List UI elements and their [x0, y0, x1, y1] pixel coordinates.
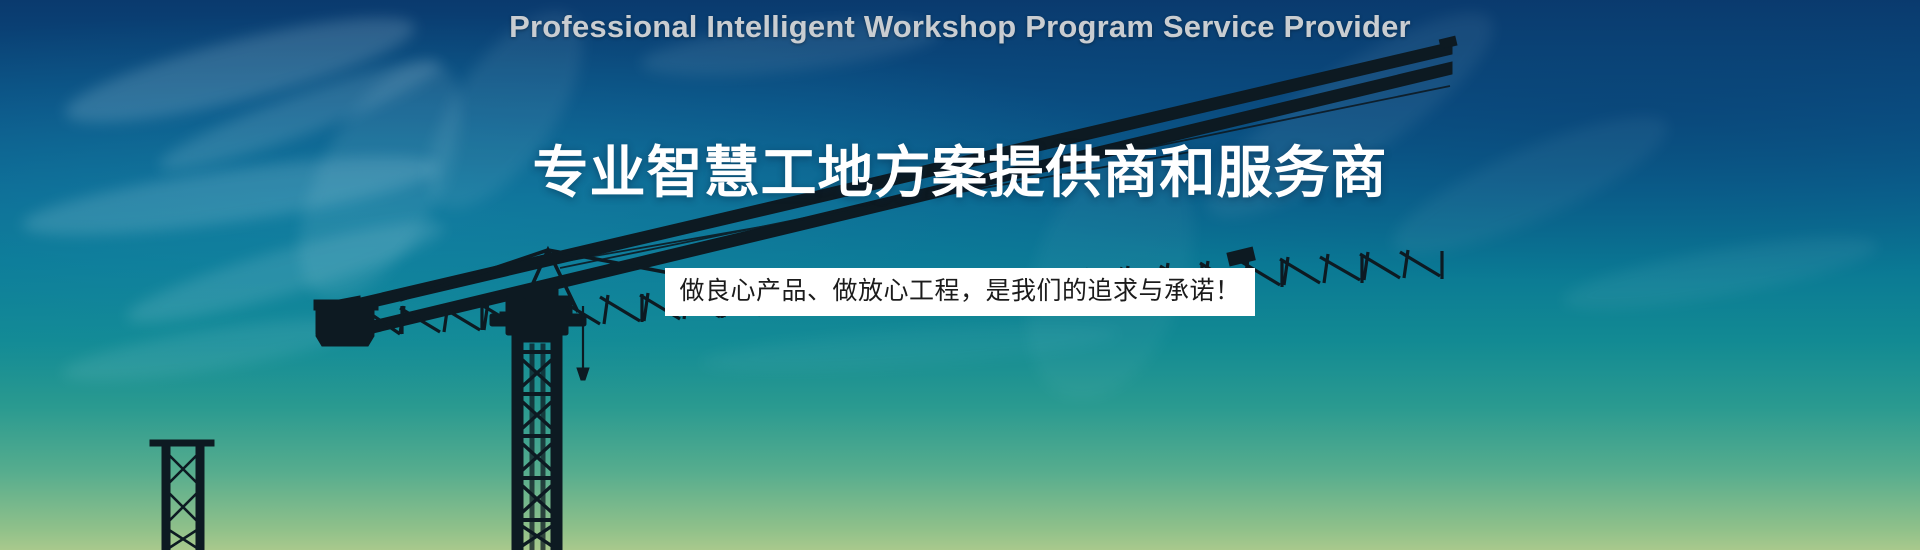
banner-headline: 专业智慧工地方案提供商和服务商 — [0, 128, 1920, 209]
banner-subtitle-container: 做良心产品、做放心工程，是我们的追求与承诺！ — [0, 268, 1920, 316]
banner-eyebrow-text: Professional Intelligent Workshop Progra… — [0, 9, 1920, 45]
banner-subtitle: 做良心产品、做放心工程，是我们的追求与承诺！ — [665, 268, 1254, 316]
hero-banner: Professional Intelligent Workshop Progra… — [0, 0, 1920, 550]
